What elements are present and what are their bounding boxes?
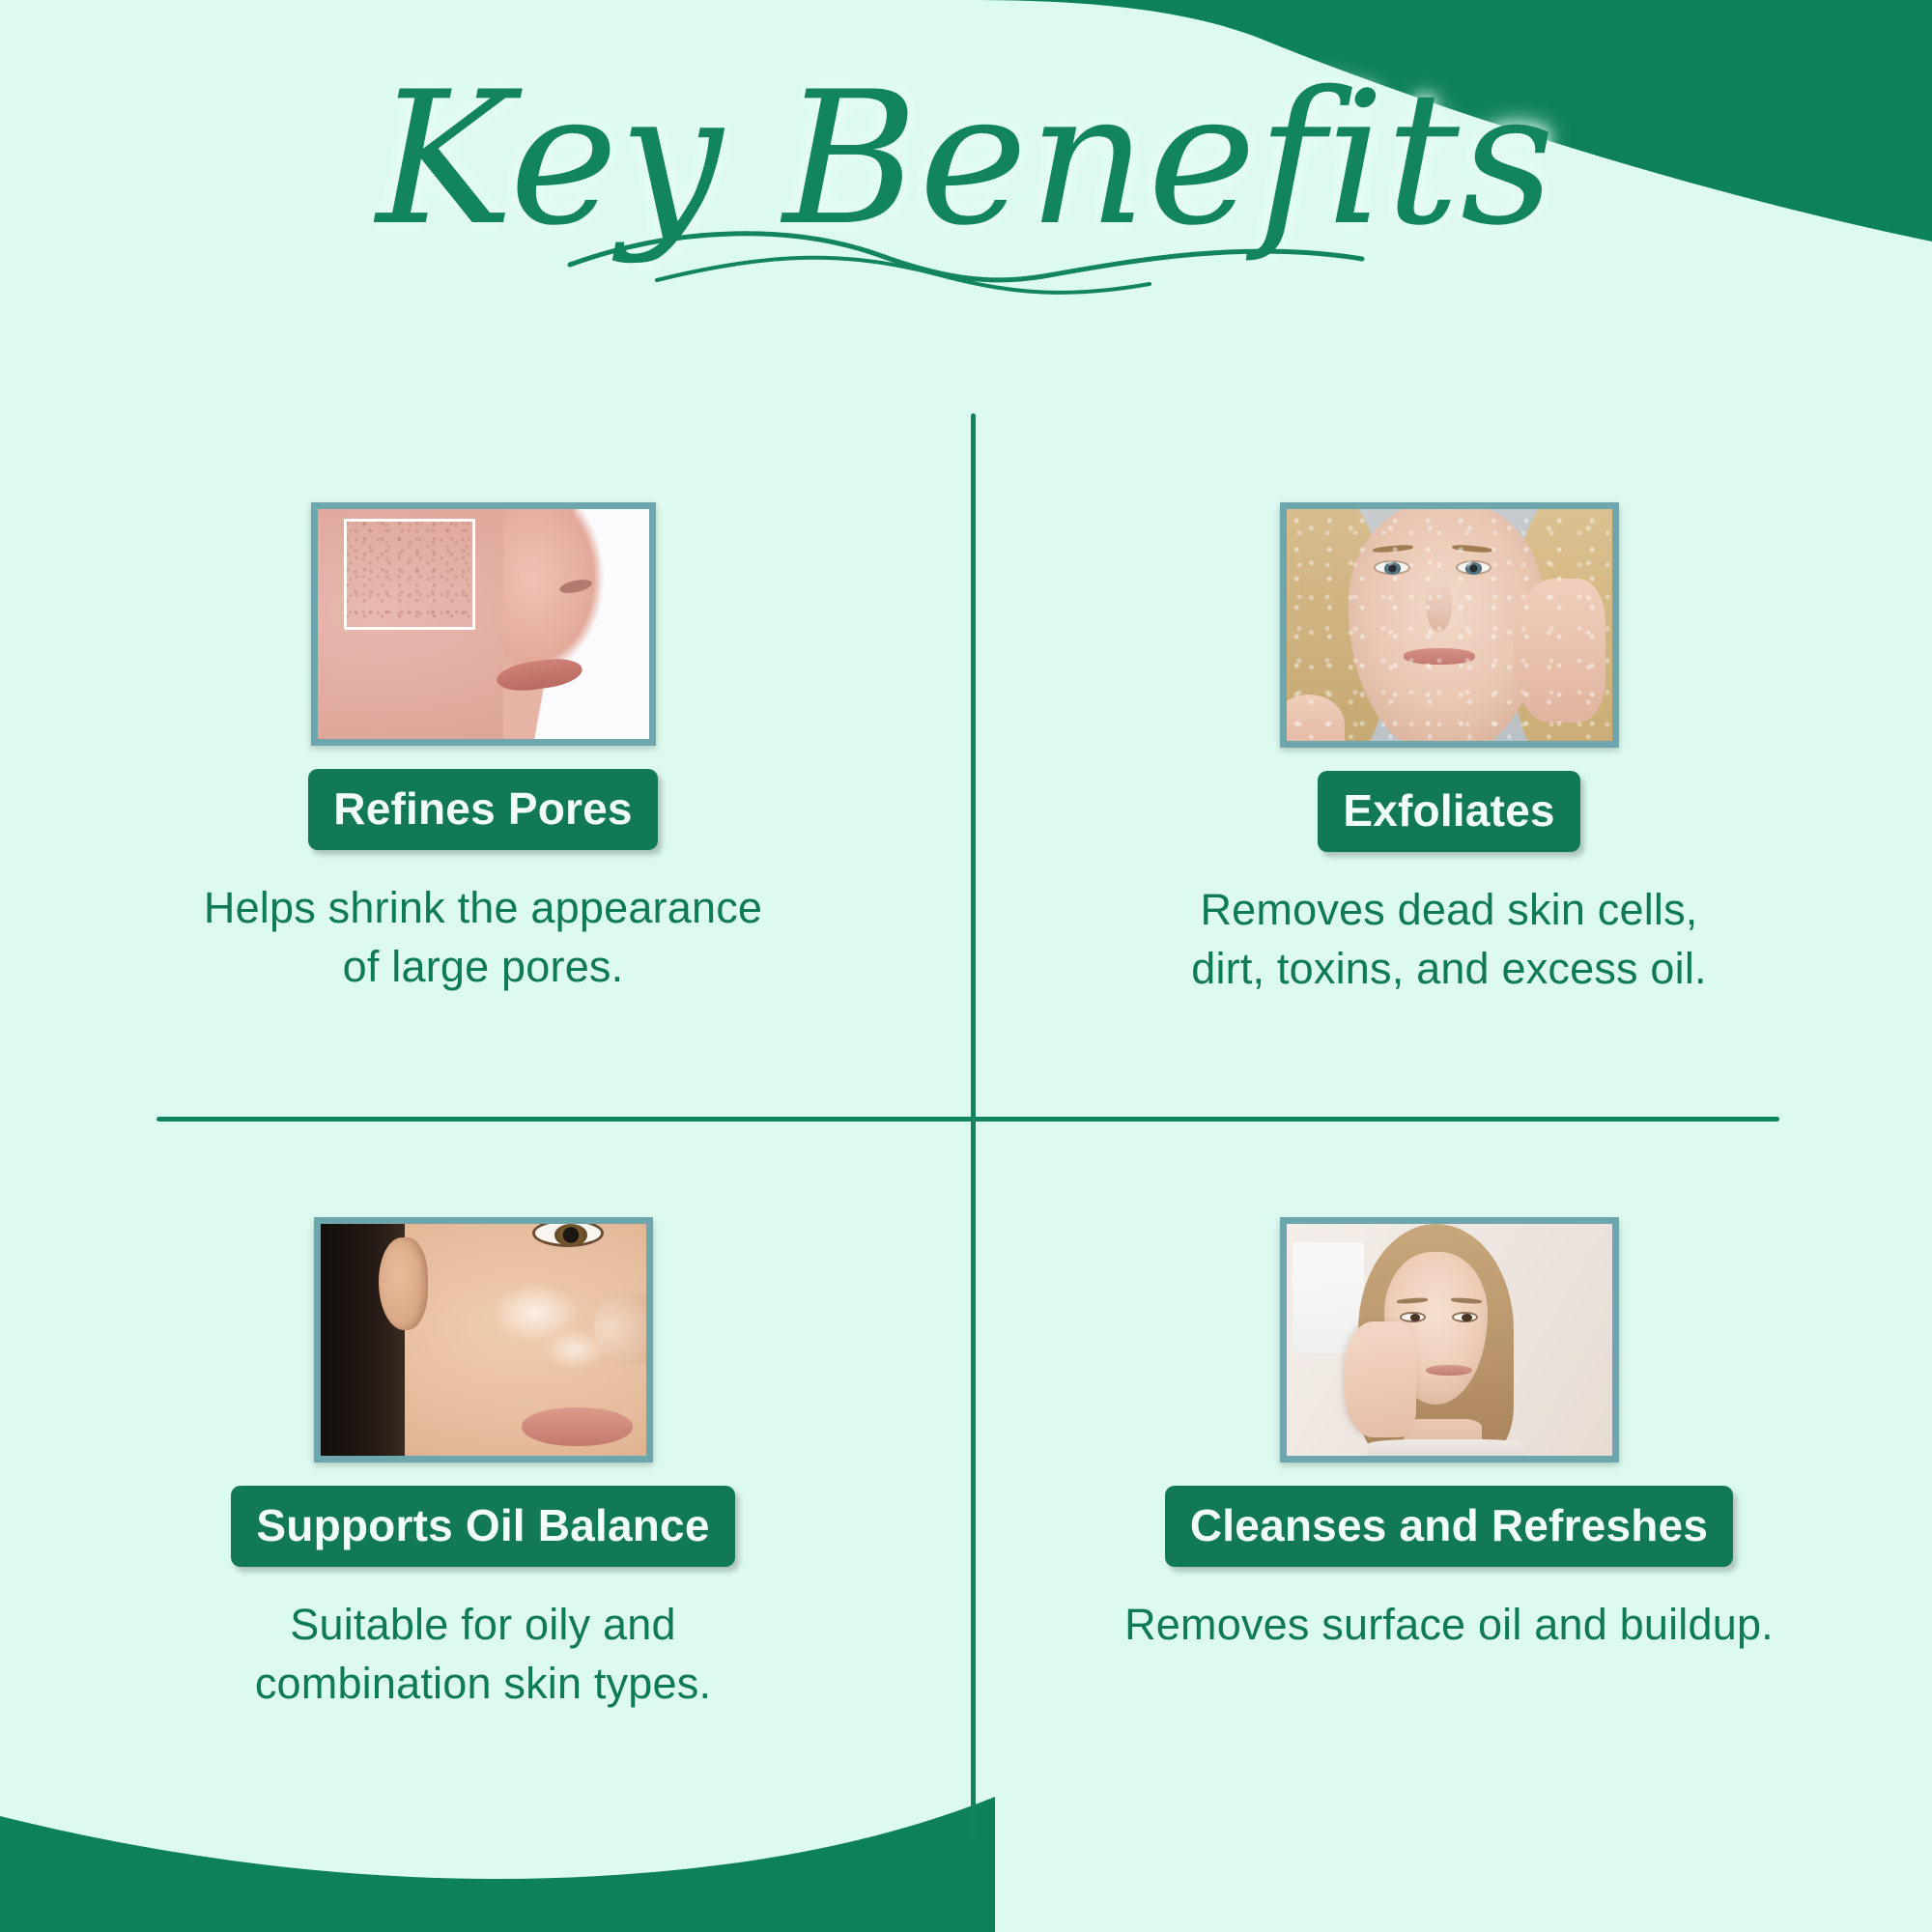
benefit-description-supports-oil-balance: Suitable for oily and combination skin t… [106, 1596, 860, 1714]
benefit-photo-frame [1280, 1217, 1619, 1463]
infographic-canvas: Key Benefits Refines Pores [0, 0, 1932, 1932]
benefit-badge-cleanses-and-refreshes: Cleanses and Refreshes [1165, 1486, 1733, 1567]
benefit-card-refines-pores: Refines Pores Helps shrink the appearanc… [0, 502, 966, 997]
description-line: Helps shrink the appearance [106, 879, 860, 938]
benefit-image-refines-pores [318, 509, 649, 739]
pore-highlight-box [344, 519, 475, 630]
benefit-badge-refines-pores: Refines Pores [308, 769, 657, 850]
benefit-photo-frame [311, 502, 656, 746]
benefit-badge-exfoliates: Exfoliates [1318, 771, 1579, 852]
benefit-badge-supports-oil-balance: Supports Oil Balance [231, 1486, 734, 1567]
description-line: Removes dead skin cells, [1072, 881, 1826, 940]
benefit-photo-frame [1280, 502, 1619, 748]
benefit-image-cleanses-and-refreshes [1287, 1224, 1612, 1456]
benefit-card-supports-oil-balance: Supports Oil Balance Suitable for oily a… [0, 1217, 966, 1714]
benefit-card-cleanses-and-refreshes: Cleanses and Refreshes Removes surface o… [966, 1217, 1932, 1655]
benefit-description-refines-pores: Helps shrink the appearance of large por… [106, 879, 860, 997]
benefit-image-supports-oil-balance [321, 1224, 646, 1456]
description-line: Removes surface oil and buildup. [1072, 1596, 1826, 1655]
description-line: Suitable for oily and [106, 1596, 860, 1655]
benefit-card-exfoliates: Exfoliates Removes dead skin cells, dirt… [966, 502, 1932, 999]
description-line: of large pores. [106, 938, 860, 997]
benefits-grid: Refines Pores Helps shrink the appearanc… [0, 0, 1932, 1932]
benefit-description-cleanses-and-refreshes: Removes surface oil and buildup. [1072, 1596, 1826, 1655]
benefit-image-exfoliates [1287, 509, 1612, 741]
benefit-photo-frame [314, 1217, 653, 1463]
description-line: combination skin types. [106, 1655, 860, 1714]
benefit-description-exfoliates: Removes dead skin cells, dirt, toxins, a… [1072, 881, 1826, 999]
description-line: dirt, toxins, and excess oil. [1072, 940, 1826, 999]
